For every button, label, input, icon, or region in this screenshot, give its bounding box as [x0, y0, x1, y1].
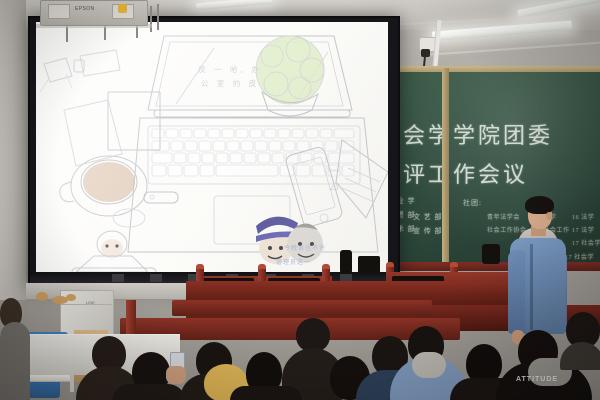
bench [172, 300, 432, 316]
jacket-graphic-text: ATTITUDE [516, 376, 558, 383]
laptop-screen-text-line1: 皮 一 哈, 办 [170, 64, 290, 75]
screen-grip [112, 274, 124, 282]
chalkboard-title-line1: 社会学学院团委 [378, 118, 553, 150]
microphone-stand [340, 250, 352, 274]
bench-post-cap [322, 264, 330, 269]
projector-lens-icon [118, 4, 127, 13]
chalkboard-class: 17 社会学 [565, 252, 594, 261]
bench-post-cap [258, 264, 266, 269]
audience-hood [412, 352, 446, 378]
av-equipment [358, 256, 380, 274]
projection-screen: 警察 皮 一 哈, 办 公 室 的 皮 今晚谁也不许 管理员这一 [36, 22, 388, 274]
cabinet-label: LINE [86, 300, 95, 305]
chalkboard-title-line2: 综评工作会议 [378, 157, 528, 189]
chalkboard-club: 青年法学会 [487, 212, 520, 221]
chalkboard-class: 17 社会学 [572, 238, 600, 247]
audience-shoulders [230, 386, 302, 400]
chalkboard-club: 社会工作协会 [487, 225, 527, 234]
chalkboard-class: 17 法学 [572, 225, 595, 234]
svg-text:警察: 警察 [270, 226, 280, 233]
projector-vent [48, 4, 70, 19]
chalkboard-center-trim [442, 68, 449, 268]
audience-shoulders [0, 322, 30, 400]
audience-shoulders [112, 384, 186, 400]
classroom-scene: 社会学学院团委 综评工作会议 院 业 学 学 贾 部 学 术 部 文 艺 部 宣… [0, 0, 600, 400]
left-wall [0, 0, 26, 300]
speaker-ear [546, 212, 552, 220]
object-on-counter [36, 292, 48, 301]
chalkboard-notes-header: 社团: [463, 198, 482, 208]
screen-grip [150, 274, 162, 282]
object-on-counter [66, 294, 76, 301]
chalkboard-note: 宣 传 部 [413, 226, 443, 236]
bench-post-cap [196, 264, 204, 269]
bench-post-cap [386, 262, 394, 267]
illustration-caption-line1: 今晚谁也不许 [284, 244, 326, 254]
chalkboard-class: 16 法学 [572, 212, 595, 221]
desk-illustration [36, 22, 388, 274]
av-equipment [482, 244, 500, 264]
illustration-caption-line2: 管理员这一 [276, 258, 311, 268]
bench-post-cap [450, 262, 458, 267]
projector-brand-label: EPSON [75, 6, 95, 12]
speaker-arm-left [508, 250, 525, 334]
audience-head [296, 318, 330, 352]
projector-rod [157, 4, 159, 30]
jacket-placket [530, 244, 533, 330]
audience-hand [166, 366, 186, 384]
projector-rod [150, 6, 152, 32]
laptop-screen-text-line2: 公 室 的 皮 [170, 78, 290, 89]
chalkboard-note: 文 艺 部 [413, 212, 443, 222]
